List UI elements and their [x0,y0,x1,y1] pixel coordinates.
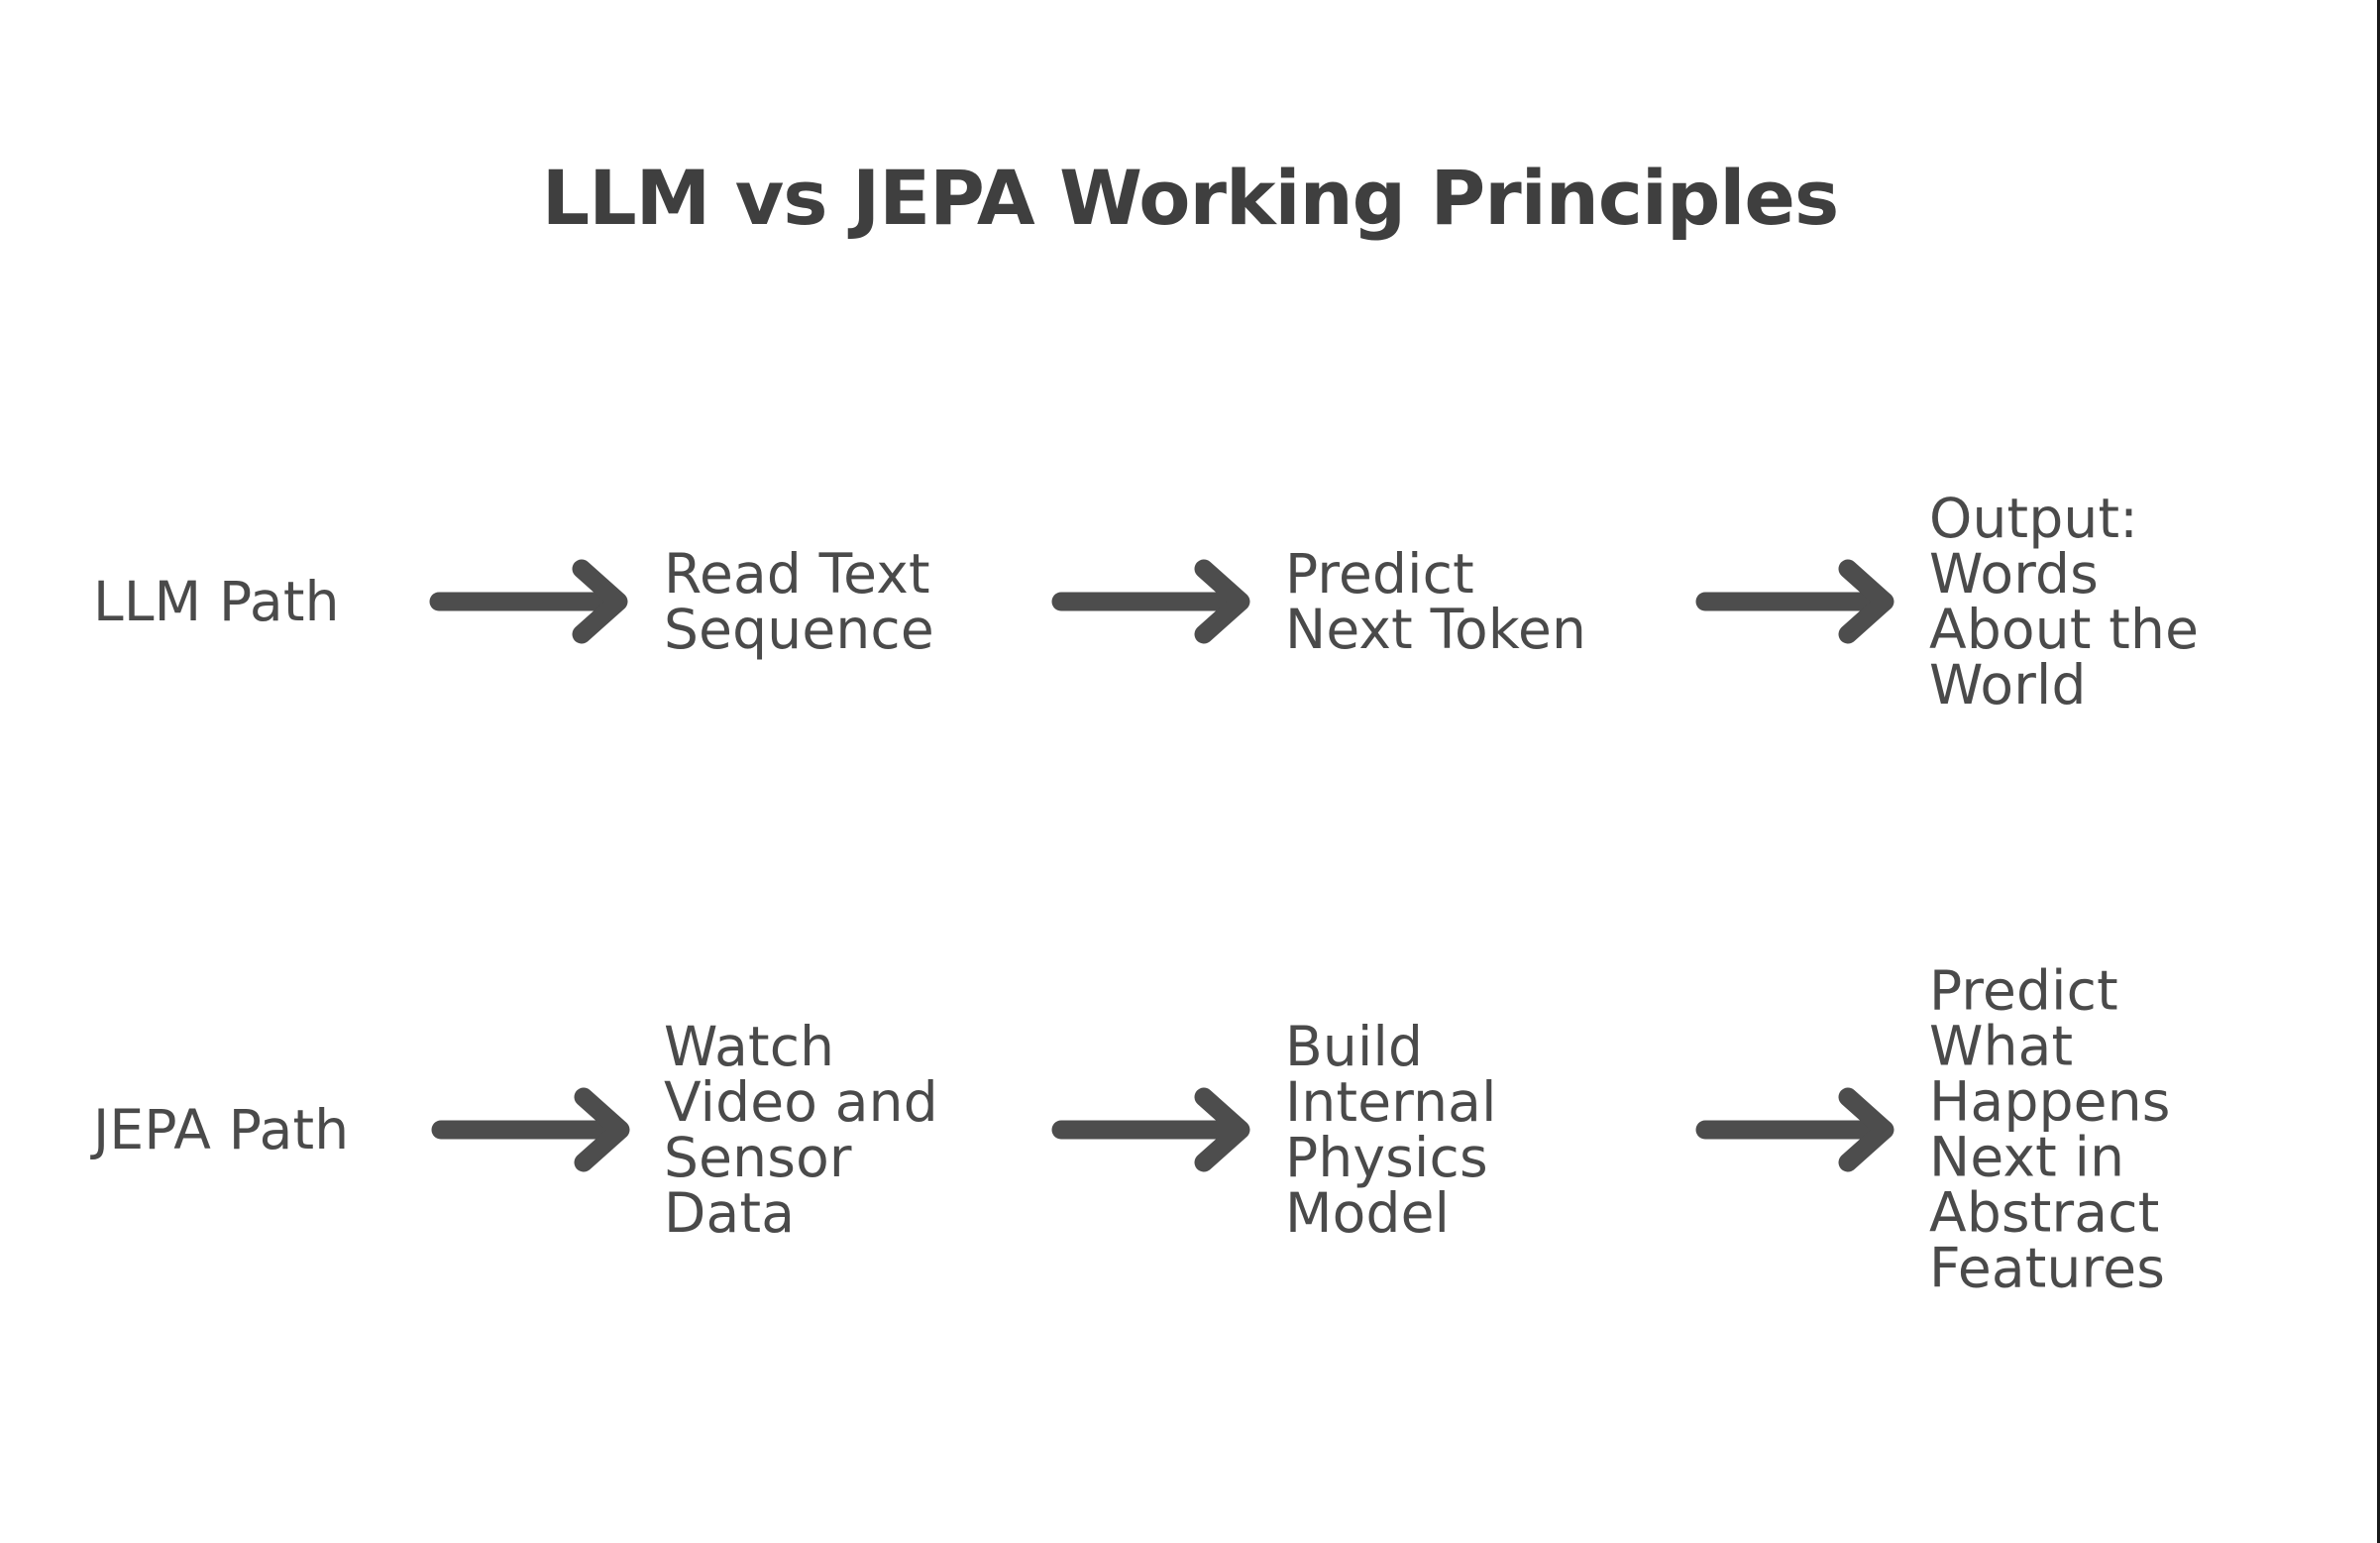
node-jepa-step-2[interactable]: Build Internal Physics Model [1285,1019,1622,1241]
page-title: LLM vs JEPA Working Principles [0,154,2380,242]
node-llm-step-3[interactable]: Output: Words About the World [1929,491,2345,713]
node-llm-step-1[interactable]: Read Text Sequence [664,546,1011,657]
node-jepa-step-1[interactable]: Watch Video and Sensor Data [664,1019,1011,1241]
diagram-canvas: LLM vs JEPA Working Principles LLM Path … [0,0,2380,1543]
node-llm-step-2[interactable]: Predict Next Token [1285,546,1681,657]
jepa-arrow-2 [1053,1085,1253,1174]
llm-arrow-1 [431,557,631,646]
node-llm-start[interactable]: LLM Path [93,574,430,629]
llm-arrow-2 [1053,557,1253,646]
llm-arrow-3 [1697,557,1897,646]
jepa-arrow-3 [1697,1085,1897,1174]
jepa-arrow-1 [433,1085,633,1174]
node-jepa-start[interactable]: JEPA Path [93,1102,450,1157]
node-jepa-step-3[interactable]: Predict What Happens Next in Abstract Fe… [1929,963,2345,1297]
